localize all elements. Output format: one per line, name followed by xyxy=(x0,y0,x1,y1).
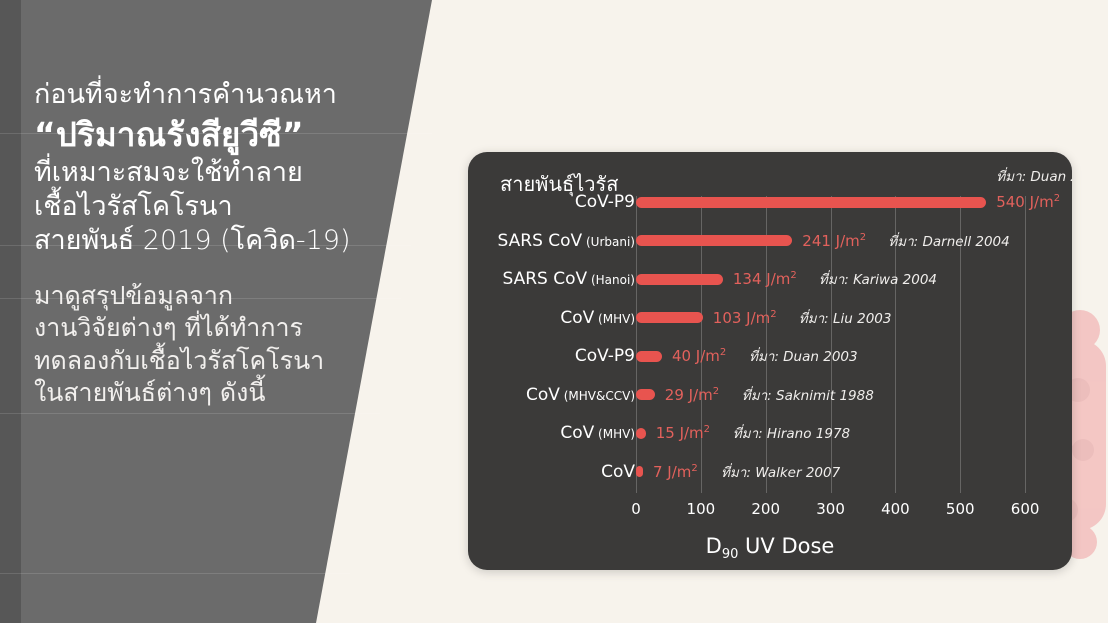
x-axis-title-sub: 90 xyxy=(722,547,739,562)
heading-line-5: สายพันธ์ 2019 (โควิด-19) xyxy=(34,224,434,258)
category-label: CoV xyxy=(601,462,635,482)
bar[interactable] xyxy=(636,428,646,439)
paragraph-line-4: ในสายพันธ์ต่างๆ ดังนี้ xyxy=(34,377,434,410)
source-note: ที่มา: Duan 2003 xyxy=(996,165,1072,187)
paragraph-line-3: ทดลองกับเชื้อไวรัสโคโรนา xyxy=(34,345,434,378)
unit-exponent: 2 xyxy=(790,270,796,281)
category-strain: (Hanoi) xyxy=(587,273,635,287)
chart-row[interactable]: SARS CoV (Urbani)241 J/m2ที่มา: Darnell … xyxy=(468,226,1072,256)
bar-value-label: 241 J/m2 xyxy=(802,232,866,250)
chart-row[interactable]: CoV-P9540 J/m2 xyxy=(468,187,1072,217)
unit-exponent: 2 xyxy=(770,309,776,320)
paragraph-line-2: งานวิจัยต่างๆ ที่ได้ทำการ xyxy=(34,312,434,345)
category-name: CoV-P9 xyxy=(575,192,635,212)
category-label: SARS CoV (Urbani) xyxy=(498,231,635,251)
category-name: CoV xyxy=(526,385,560,405)
heading-line-2: “ปริมาณรังสียูวีซี” xyxy=(34,114,434,156)
x-axis-tick-label: 100 xyxy=(687,500,716,518)
bar-value-label: 134 J/m2 xyxy=(733,270,797,288)
category-strain: (MHV) xyxy=(594,427,635,441)
bar[interactable] xyxy=(636,235,792,246)
chart-row[interactable]: CoV (MHV)15 J/m2ที่มา: Hirano 1978 xyxy=(468,418,1072,448)
x-axis-tick-label: 600 xyxy=(1011,500,1040,518)
bar-value-label: 540 J/m2 xyxy=(996,193,1060,211)
unit-exponent: 2 xyxy=(1054,193,1060,204)
category-strain: (MHV&CCV) xyxy=(560,389,635,403)
left-dark-strip xyxy=(0,0,21,623)
source-note: ที่มา: Darnell 2004 xyxy=(888,230,1009,252)
category-name: SARS CoV xyxy=(503,269,588,289)
x-axis-tick-label: 400 xyxy=(881,500,910,518)
source-note: ที่มา: Walker 2007 xyxy=(721,461,840,483)
bar[interactable] xyxy=(636,351,662,362)
bar[interactable] xyxy=(636,197,986,208)
unit-exponent: 2 xyxy=(860,232,866,243)
paragraph-line-1: มาดูสรุปข้อมูลจาก xyxy=(34,280,434,313)
category-label: CoV (MHV&CCV) xyxy=(526,385,635,405)
chart-panel: สายพันธุ์ไวรัส ที่มา: Duan 2003CoV-P9540… xyxy=(468,152,1072,570)
chart-row[interactable]: SARS CoV (Hanoi)134 J/m2ที่มา: Kariwa 20… xyxy=(468,264,1072,294)
category-strain: (Urbani) xyxy=(582,235,635,249)
source-note: ที่มา: Saknimit 1988 xyxy=(742,384,874,406)
category-name: SARS CoV xyxy=(498,231,583,251)
source-note: ที่มา: Duan 2003 xyxy=(749,345,858,367)
x-axis-tick-label: 0 xyxy=(631,500,641,518)
source-note: ที่มา: Liu 2003 xyxy=(799,307,892,329)
category-name: CoV xyxy=(560,308,594,328)
bar-value-label: 7 J/m2 xyxy=(653,463,698,481)
unit-exponent: 2 xyxy=(720,347,726,358)
category-label: SARS CoV (Hanoi) xyxy=(503,269,636,289)
bar-value-label: 103 J/m2 xyxy=(713,309,777,327)
heading-line-1: ก่อนที่จะทำการคำนวณหา xyxy=(34,78,434,112)
unit-exponent: 2 xyxy=(704,424,710,435)
chart-row[interactable]: CoV-P940 J/m2ที่มา: Duan 2003 xyxy=(468,341,1072,371)
bar[interactable] xyxy=(636,312,703,323)
category-name: CoV-P9 xyxy=(575,346,635,366)
left-text-block: ก่อนที่จะทำการคำนวณหา “ปริมาณรังสียูวีซี… xyxy=(34,78,434,410)
chart-row[interactable]: CoV7 J/m2ที่มา: Walker 2007 xyxy=(468,457,1072,487)
paragraph-block: มาดูสรุปข้อมูลจาก งานวิจัยต่างๆ ที่ได้ทำ… xyxy=(34,280,434,410)
bar[interactable] xyxy=(636,466,643,477)
bar[interactable] xyxy=(636,389,655,400)
x-axis-tick-label: 200 xyxy=(751,500,780,518)
source-note: ที่มา: Hirano 1978 xyxy=(733,422,850,444)
x-axis-title: D90 UV Dose xyxy=(468,534,1072,562)
bar-value-label: 40 J/m2 xyxy=(672,347,726,365)
x-axis-tick-label: 500 xyxy=(946,500,975,518)
chart-row[interactable]: CoV (MHV&CCV)29 J/m2ที่มา: Saknimit 1988 xyxy=(468,380,1072,410)
heading-line-3: ที่เหมาะสมจะใช้ทำลาย xyxy=(34,156,434,190)
x-axis-title-rest: UV Dose xyxy=(738,534,834,558)
bar-value-label: 29 J/m2 xyxy=(665,386,719,404)
slab-gridline xyxy=(0,573,350,574)
category-label: CoV-P9 xyxy=(575,192,635,212)
category-name: CoV xyxy=(560,423,594,443)
unit-exponent: 2 xyxy=(713,386,719,397)
source-note: ที่มา: Kariwa 2004 xyxy=(819,268,937,290)
category-label: CoV-P9 xyxy=(575,346,635,366)
x-axis: 0100200300400500600 xyxy=(468,500,1072,526)
x-axis-tick-label: 300 xyxy=(816,500,845,518)
chart-row[interactable]: CoV (MHV)103 J/m2ที่มา: Liu 2003 xyxy=(468,303,1072,333)
slab-gridline xyxy=(0,413,380,414)
slide-canvas: ก่อนที่จะทำการคำนวณหา “ปริมาณรังสียูวีซี… xyxy=(0,0,1108,623)
category-strain: (MHV) xyxy=(594,312,635,326)
category-label: CoV (MHV) xyxy=(560,308,635,328)
bar[interactable] xyxy=(636,274,723,285)
unit-exponent: 2 xyxy=(691,463,697,474)
category-name: CoV xyxy=(601,462,635,482)
heading-line-4: เชื้อไวรัสโคโรนา xyxy=(34,190,434,224)
bar-value-label: 15 J/m2 xyxy=(656,424,710,442)
category-label: CoV (MHV) xyxy=(560,423,635,443)
x-axis-title-base: D xyxy=(706,534,722,558)
